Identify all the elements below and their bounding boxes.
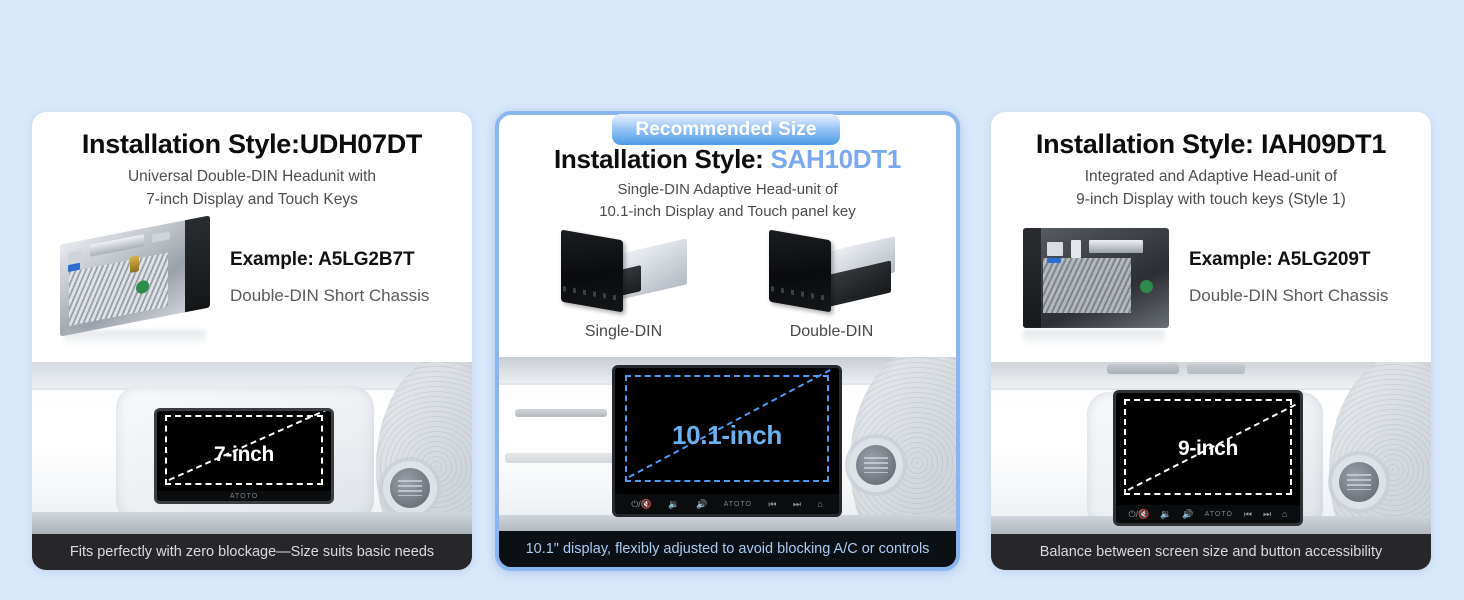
comparison-banner: Installation Style:UDH07DT Universal Dou… [0, 0, 1464, 600]
product-info: Example: A5LG2B7T Double-DIN Short Chass… [224, 249, 458, 306]
subtitle-line-2: 10.1-inch Display and Touch panel key [499, 201, 956, 223]
power-mute-icon[interactable]: ⏻/🔇 [631, 500, 652, 509]
product-row: Example: A5LG209T Double-DIN Short Chass… [991, 217, 1431, 337]
page-title: Installation Style:UDH07DT [32, 130, 472, 159]
product-photo-a5lg209t [1005, 218, 1183, 336]
dashboard-photo: ⏻/🔇 🔉 🔊 ATOTO ⏮ ⏭ ⌂ 10.1-inch 10.1" disp… [499, 357, 956, 567]
engine-start-button-icon [390, 468, 430, 508]
card-subtitle: Universal Double-DIN Headunit with 7-inc… [32, 166, 472, 211]
product-card-udh07dt[interactable]: Installation Style:UDH07DT Universal Dou… [32, 112, 472, 570]
device-variants-row: Single-DIN Double-DIN [499, 229, 956, 347]
previous-track-icon[interactable]: ⏮ [768, 500, 776, 509]
chassis-type: Double-DIN Short Chassis [1189, 286, 1417, 306]
device-variant-double-din: Double-DIN [757, 229, 907, 347]
brand-label: ATOTO [1205, 511, 1233, 518]
product-photo-a5lg2b7t [46, 218, 224, 336]
subtitle-line-1: Integrated and Adaptive Head-unit of [991, 166, 1431, 188]
card-caption: Fits perfectly with zero blockage—Size s… [32, 534, 472, 570]
card-header: Installation Style:UDH07DT Universal Dou… [32, 112, 472, 211]
volume-down-icon[interactable]: 🔉 [668, 500, 679, 509]
title-prefix: Installation Style: [554, 144, 764, 174]
example-model: Example: A5LG209T [1189, 249, 1417, 271]
home-icon[interactable]: ⌂ [817, 500, 822, 509]
recommended-size-badge: Recommended Size [612, 114, 840, 145]
dashboard-photo: ATOTO 7-inch Fits perfectly with zero bl… [32, 362, 472, 570]
volume-up-icon[interactable]: 🔊 [696, 500, 707, 509]
screen-size-label: 7-inch [157, 443, 331, 467]
screen-size-label: 10.1-inch [615, 420, 839, 451]
head-unit-7inch: ATOTO 7-inch [154, 408, 334, 504]
subtitle-line-1: Universal Double-DIN Headunit with [32, 166, 472, 188]
brand-label: ATOTO [724, 501, 752, 508]
screen-size-label: 9-inch [1116, 437, 1300, 461]
dashboard-photo: ⏻/🔇 🔉 🔊 ATOTO ⏮ ⏭ ⌂ 9-inch Balance betwe… [991, 362, 1431, 570]
next-track-icon[interactable]: ⏭ [1263, 510, 1271, 519]
subtitle-line-2: 7-inch Display and Touch Keys [32, 189, 472, 211]
page-title: Installation Style: IAH09DT1 [991, 130, 1431, 159]
brand-label: ATOTO [230, 493, 258, 500]
card-subtitle: Integrated and Adaptive Head-unit of 9-i… [991, 166, 1431, 211]
card-caption: 10.1" display, flexibly adjusted to avoi… [499, 531, 956, 567]
product-card-iah09dt1[interactable]: Installation Style: IAH09DT1 Integrated … [991, 112, 1431, 570]
head-unit-9inch: ⏻/🔇 🔉 🔊 ATOTO ⏮ ⏭ ⌂ 9-inch [1113, 390, 1303, 526]
example-model: Example: A5LG2B7T [230, 249, 458, 271]
volume-down-icon[interactable]: 🔉 [1160, 510, 1171, 519]
subtitle-line-1: Single-DIN Adaptive Head-unit of [499, 179, 956, 201]
device-label: Double-DIN [757, 323, 907, 341]
product-row: Example: A5LG2B7T Double-DIN Short Chass… [32, 217, 472, 337]
power-mute-icon[interactable]: ⏻/🔇 [1128, 510, 1149, 519]
home-icon[interactable]: ⌂ [1282, 510, 1287, 519]
device-label: Single-DIN [549, 323, 699, 341]
device-photo-single-din [549, 229, 699, 319]
product-card-sah10dt1[interactable]: Installation Style: SAH10DT1 Single-DIN … [495, 111, 960, 571]
head-unit-10inch: ⏻/🔇 🔉 🔊 ATOTO ⏮ ⏭ ⌂ 10.1-inch [612, 365, 842, 517]
page-title: Installation Style: SAH10DT1 [499, 145, 956, 173]
card-caption: Balance between screen size and button a… [991, 534, 1431, 570]
engine-start-button-icon [856, 445, 896, 485]
chassis-type: Double-DIN Short Chassis [230, 286, 458, 306]
device-variant-single-din: Single-DIN [549, 229, 699, 347]
engine-start-button-icon [1339, 462, 1379, 502]
card-subtitle: Single-DIN Adaptive Head-unit of 10.1-in… [499, 179, 956, 223]
next-track-icon[interactable]: ⏭ [793, 500, 801, 509]
product-info: Example: A5LG209T Double-DIN Short Chass… [1183, 249, 1417, 306]
volume-up-icon[interactable]: 🔊 [1182, 510, 1193, 519]
card-header: Installation Style: IAH09DT1 Integrated … [991, 112, 1431, 211]
subtitle-line-2: 9-inch Display with touch keys (Style 1) [991, 189, 1431, 211]
device-photo-double-din [757, 229, 907, 319]
title-model-code: SAH10DT1 [770, 144, 901, 174]
previous-track-icon[interactable]: ⏮ [1244, 510, 1252, 519]
